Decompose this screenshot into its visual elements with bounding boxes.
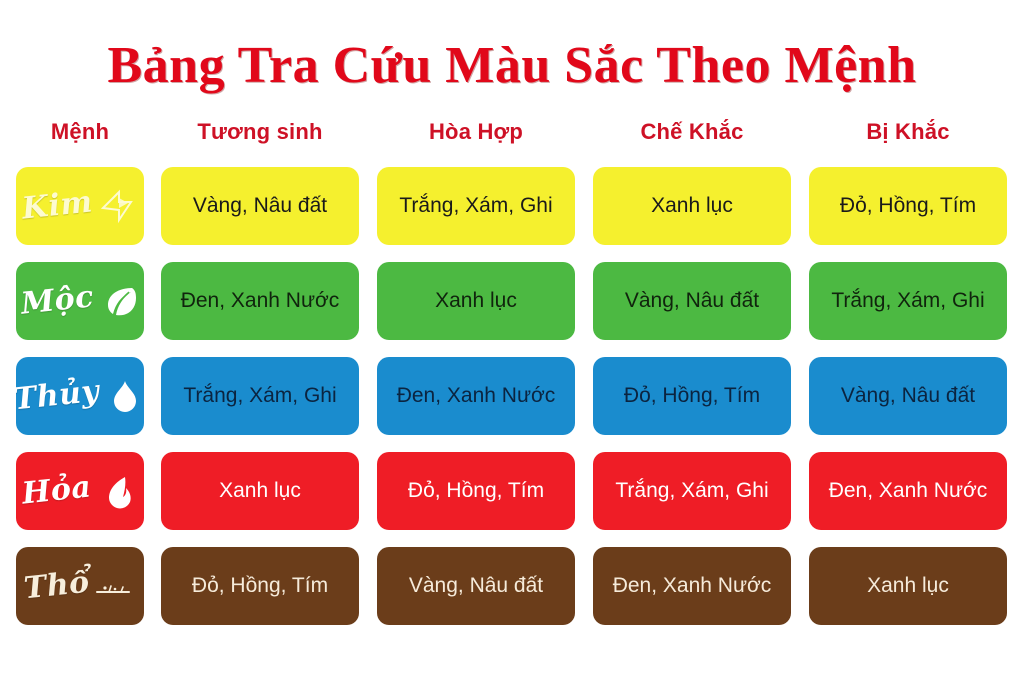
arrow-origami-icon <box>96 183 138 229</box>
column-header-che-khac: Chế Khắc <box>584 119 800 145</box>
cell-kim-che-khac: Xanh lục <box>593 167 791 245</box>
cell-thuy-tuong-sinh: Trắng, Xám, Ghi <box>161 357 359 435</box>
element-badge-thuy: Thủy <box>16 357 144 435</box>
element-badge-hoa: Hỏa <box>16 452 144 530</box>
water-drop-icon <box>104 373 144 419</box>
element-name-label: Thủy <box>16 376 101 415</box>
cell-thuy-hoa-hop: Đen, Xanh Nước <box>377 357 575 435</box>
cell-hoa-hoa-hop: Đỏ, Hồng, Tím <box>377 452 575 530</box>
element-badge-moc: Mộc <box>16 262 144 340</box>
element-name-label: Thổ <box>23 567 91 604</box>
table-row: Kim Vàng, Nâu đất Trắng, Xám, Ghi Xanh l… <box>8 158 1016 253</box>
cell-hoa-che-khac: Trắng, Xám, Ghi <box>593 452 791 530</box>
ground-soil-icon <box>94 563 136 609</box>
column-header-hoa-hop: Hòa Hợp <box>368 119 584 145</box>
cell-tho-bi-khac: Xanh lục <box>809 547 1007 625</box>
page-title: Bảng Tra Cứu Màu Sắc Theo Mệnh <box>0 38 1024 94</box>
cell-kim-hoa-hop: Trắng, Xám, Ghi <box>377 167 575 245</box>
cell-moc-hoa-hop: Xanh lục <box>377 262 575 340</box>
column-header-bi-khac: Bị Khắc <box>800 119 1016 145</box>
table-body: Kim Vàng, Nâu đất Trắng, Xám, Ghi Xanh l… <box>8 158 1016 633</box>
leaf-icon <box>98 278 140 324</box>
table-row: Hỏa Xanh lục Đỏ, Hồng, Tím Trắng, Xám, G… <box>8 443 1016 538</box>
element-name-label: Hỏa <box>21 472 93 509</box>
table-row: Thủy Trắng, Xám, Ghi Đen, Xanh Nước Đỏ, … <box>8 348 1016 443</box>
table-row: Mộc Đen, Xanh Nước Xanh lục Vàng, Nâu đấ… <box>8 253 1016 348</box>
cell-hoa-bi-khac: Đen, Xanh Nước <box>809 452 1007 530</box>
cell-thuy-che-khac: Đỏ, Hồng, Tím <box>593 357 791 435</box>
flame-icon <box>96 468 138 514</box>
cell-hoa-tuong-sinh: Xanh lục <box>161 452 359 530</box>
column-header-tuong-sinh: Tương sinh <box>152 119 368 145</box>
element-name-label: Mộc <box>19 282 95 319</box>
cell-tho-hoa-hop: Vàng, Nâu đất <box>377 547 575 625</box>
element-name-label: Kim <box>20 187 93 224</box>
column-header-menh: Mệnh <box>8 119 152 145</box>
cell-tho-che-khac: Đen, Xanh Nước <box>593 547 791 625</box>
element-badge-kim: Kim <box>16 167 144 245</box>
cell-moc-bi-khac: Trắng, Xám, Ghi <box>809 262 1007 340</box>
element-badge-tho: Thổ <box>16 547 144 625</box>
cell-kim-bi-khac: Đỏ, Hồng, Tím <box>809 167 1007 245</box>
cell-thuy-bi-khac: Vàng, Nâu đất <box>809 357 1007 435</box>
cell-moc-che-khac: Vàng, Nâu đất <box>593 262 791 340</box>
lookup-table: Mệnh Tương sinh Hòa Hợp Chế Khắc Bị Khắc… <box>8 110 1016 633</box>
cell-moc-tuong-sinh: Đen, Xanh Nước <box>161 262 359 340</box>
cell-kim-tuong-sinh: Vàng, Nâu đất <box>161 167 359 245</box>
color-lookup-chart: Bảng Tra Cứu Màu Sắc Theo Mệnh Mệnh Tươn… <box>0 0 1024 683</box>
table-header-row: Mệnh Tương sinh Hòa Hợp Chế Khắc Bị Khắc <box>8 110 1016 154</box>
table-row: Thổ Đỏ, Hồng, Tím Vàng, <box>8 538 1016 633</box>
cell-tho-tuong-sinh: Đỏ, Hồng, Tím <box>161 547 359 625</box>
